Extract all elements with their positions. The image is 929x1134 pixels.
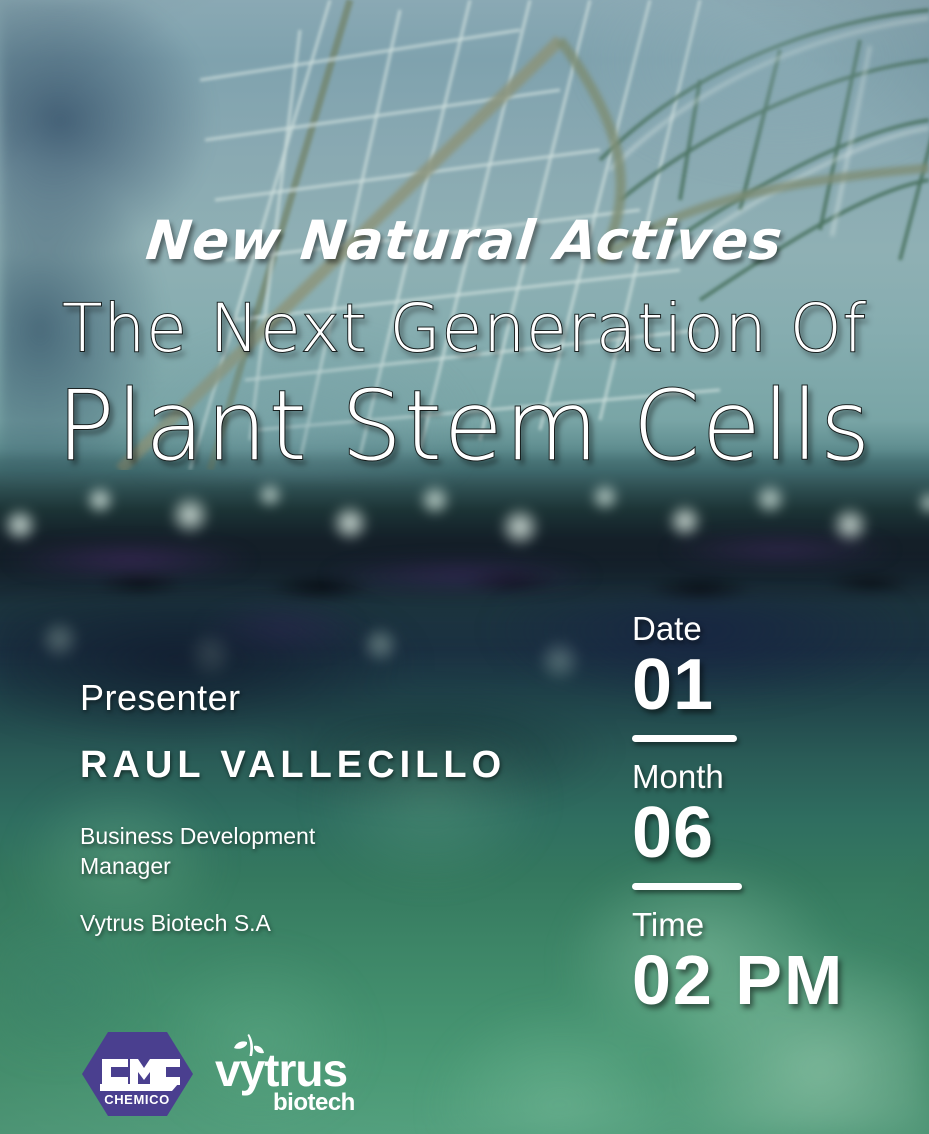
time-label: Time	[632, 908, 844, 941]
month-group: Month 06	[632, 760, 844, 890]
presenter-company: Vytrus Biotech S.A	[80, 912, 506, 935]
cmc-wordmark: CHEMICO	[104, 1092, 170, 1107]
vytrus-biotech-logo: vytrus biotech	[213, 1032, 365, 1116]
month-value: 06	[632, 797, 844, 869]
divider-rule-2	[632, 883, 742, 890]
headline-line-2: The Next Generation Of	[0, 296, 929, 362]
presenter-role: Business Development Manager	[80, 822, 380, 882]
date-label: Date	[632, 612, 844, 645]
presenter-name: RAUL VALLECILLO	[80, 746, 506, 784]
headline-script: New Natural Actives	[0, 214, 929, 268]
poster-content: New Natural Actives The Next Generation …	[0, 0, 929, 1134]
presenter-block: Presenter RAUL VALLECILLO Business Devel…	[80, 680, 506, 935]
month-label: Month	[632, 760, 844, 793]
event-poster: New Natural Actives The Next Generation …	[0, 0, 929, 1134]
divider-rule-1	[632, 735, 737, 742]
cmc-chemico-logo: CHEMICO	[80, 1028, 195, 1120]
time-value: 02 PM	[632, 945, 844, 1015]
schedule-block: Date 01 Month 06 Time 02 PM	[632, 612, 844, 1031]
presenter-label: Presenter	[80, 680, 506, 716]
headline-line-3: Plant Stem Cells	[0, 378, 929, 474]
biotech-wordmark: biotech	[273, 1089, 355, 1116]
logo-row: CHEMICO vytrus biotech	[80, 1028, 365, 1120]
time-group: Time 02 PM	[632, 908, 844, 1015]
date-group: Date 01	[632, 612, 844, 742]
date-value: 01	[632, 649, 844, 721]
